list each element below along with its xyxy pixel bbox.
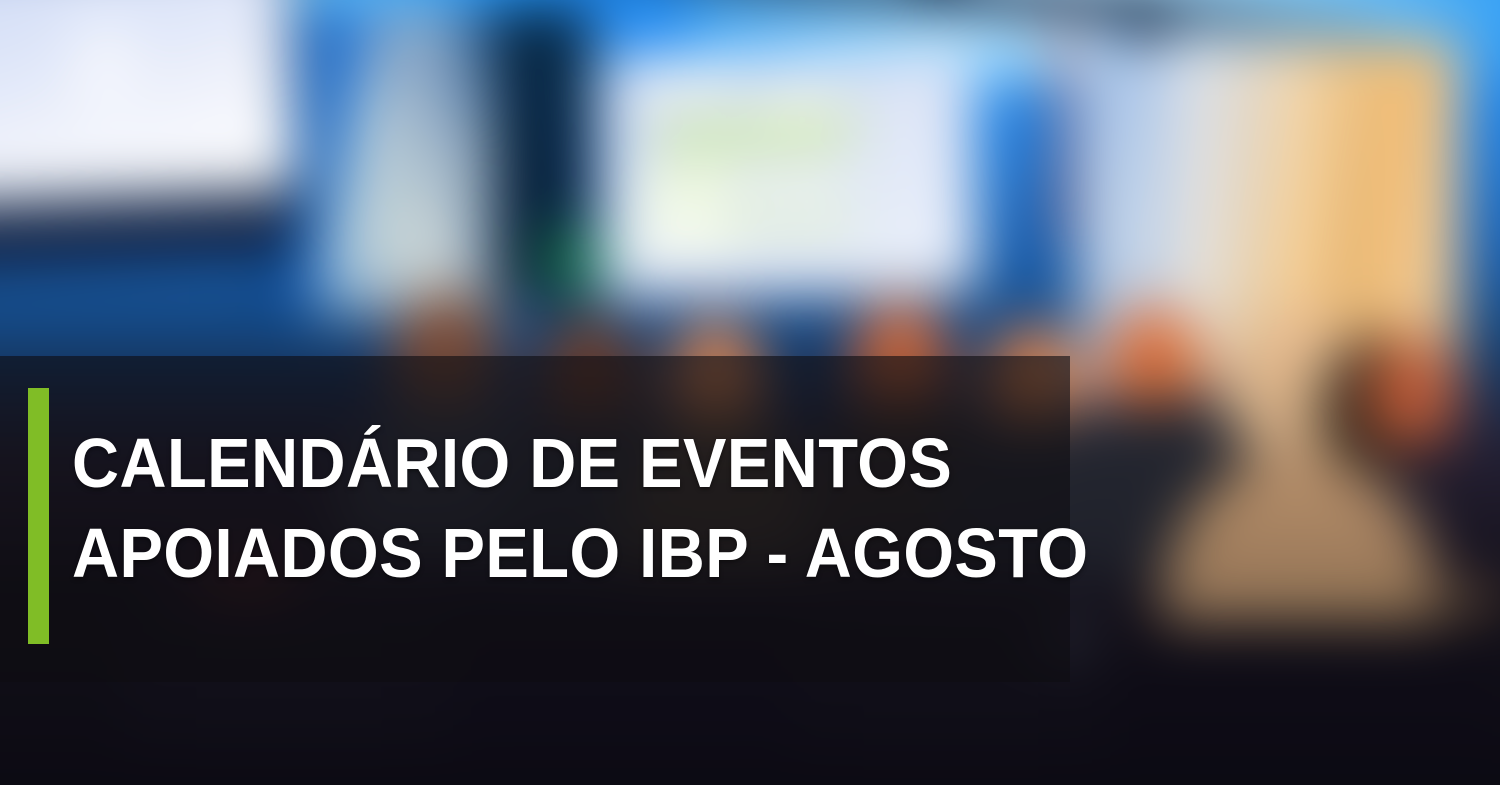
green-accent-bar xyxy=(28,388,49,644)
event-calendar-banner: CALENDÁRIO DE EVENTOS APOIADOS PELO IBP … xyxy=(0,0,1500,785)
banner-headline: CALENDÁRIO DE EVENTOS APOIADOS PELO IBP … xyxy=(72,418,1052,598)
headline-line-1: CALENDÁRIO DE EVENTOS xyxy=(72,418,983,508)
headline-line-2: APOIADOS PELO IBP - AGOSTO xyxy=(72,508,983,598)
